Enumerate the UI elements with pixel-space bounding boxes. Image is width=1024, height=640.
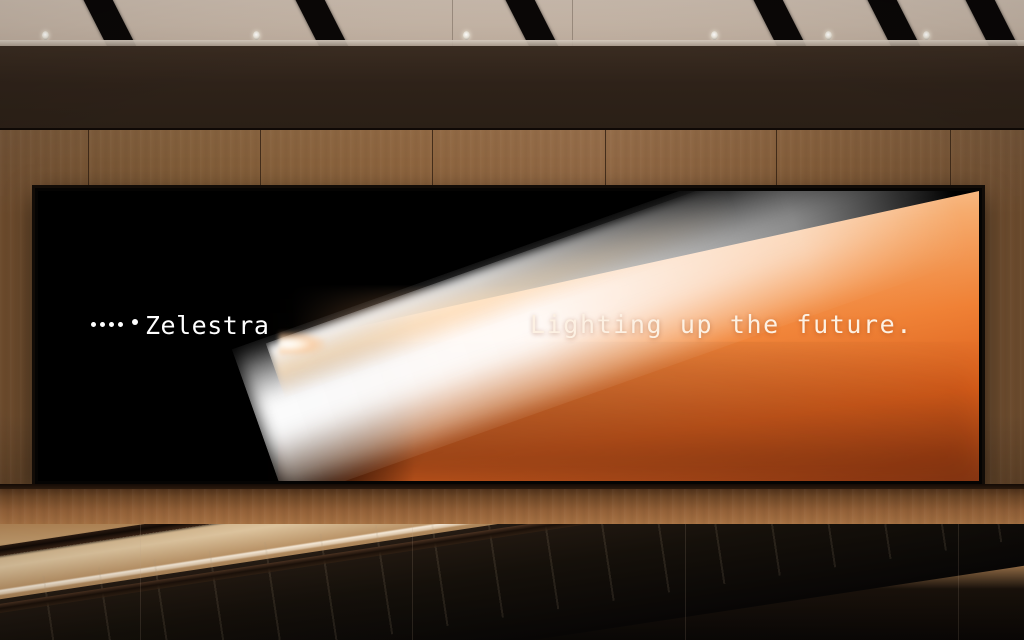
billboard[interactable]: Zelestra Lighting up the future. [35,188,982,484]
lower-wood-wall [0,484,1024,527]
brand-name: Zelestra [145,313,269,338]
ceiling-lamp-icon [825,31,832,40]
raised-dot-icon [132,319,138,325]
billboard-tagline: Lighting up the future. [530,312,913,337]
four-dots-mark-icon [91,322,123,329]
billboard-screen: Zelestra Lighting up the future. [38,191,979,481]
escalator [0,524,1024,640]
ceiling [0,0,1024,46]
scene: Zelestra Lighting up the future. [0,0,1024,640]
soffit-band [0,46,1024,130]
ceiling-lamp-icon [711,31,718,40]
brand-logo[interactable]: Zelestra [91,313,269,338]
ceiling-lamp-icon [42,31,49,40]
ceiling-lamp-icon [923,31,930,40]
escalator-glass-seam [412,524,413,640]
escalator-glass-seam [685,524,686,640]
escalator-glass-seam [140,524,141,640]
ceiling-lamp-icon [253,31,260,40]
escalator-glass-seam [958,524,959,640]
ceiling-lamp-icon [463,31,470,40]
